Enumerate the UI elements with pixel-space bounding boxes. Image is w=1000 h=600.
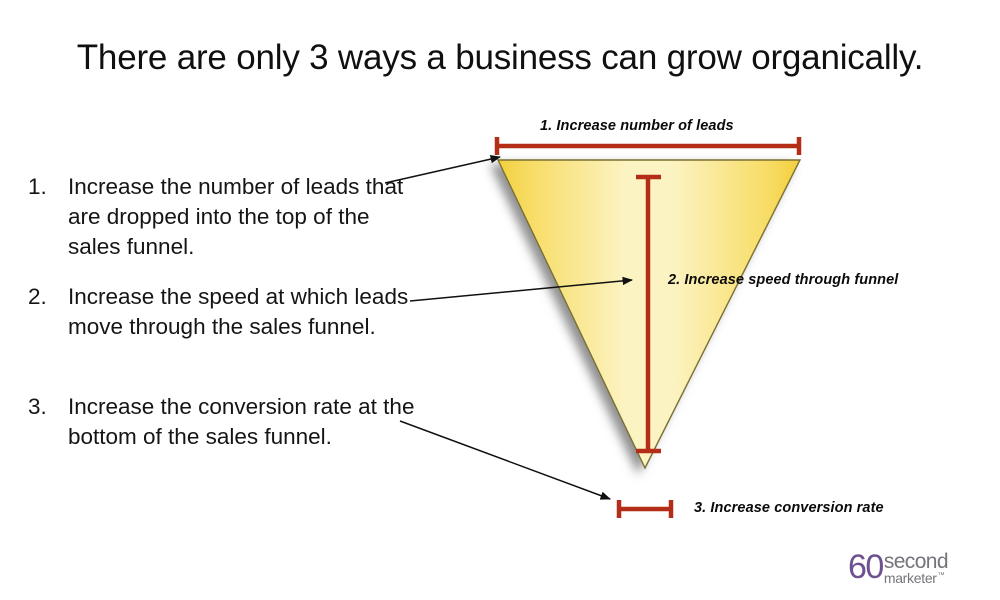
- list-item-text: Increase the number of leads that are dr…: [68, 172, 418, 262]
- leader-arrow-3: [400, 421, 610, 499]
- trademark-icon: ™: [938, 571, 945, 580]
- brand-logo: 60 second marketer ™: [848, 552, 948, 585]
- list-item-text: Increase the conversion rate at the bott…: [68, 392, 418, 452]
- list-item-number: 2.: [28, 282, 68, 312]
- list-item: 1. Increase the number of leads that are…: [28, 172, 418, 262]
- measure-bar-bottom: [618, 500, 673, 518]
- leader-arrow-2: [410, 280, 632, 301]
- logo-word-second: second: [884, 553, 948, 571]
- measure-bar-top: [496, 137, 800, 155]
- list-item-number: 1.: [28, 172, 68, 202]
- list-item: 3. Increase the conversion rate at the b…: [28, 392, 418, 452]
- page-title: There are only 3 ways a business can gro…: [0, 38, 1000, 78]
- logo-wordmark: second marketer ™: [884, 552, 948, 585]
- list-item: 2. Increase the speed at which leads mov…: [28, 282, 418, 342]
- list-item-text: Increase the speed at which leads move t…: [68, 282, 418, 342]
- list-item-number: 3.: [28, 392, 68, 422]
- funnel-shape: [498, 160, 800, 468]
- logo-word-marketer-row: marketer ™: [884, 571, 948, 585]
- annotation-label-conversion: 3. Increase conversion rate: [694, 500, 884, 516]
- annotation-label-leads: 1. Increase number of leads: [540, 118, 734, 134]
- annotation-label-speed: 2. Increase speed through funnel: [668, 272, 898, 288]
- logo-number: 60: [848, 552, 883, 582]
- logo-word-marketer: marketer: [884, 571, 937, 585]
- slide-canvas: There are only 3 ways a business can gro…: [0, 0, 1000, 600]
- measure-bar-vertical: [636, 176, 661, 452]
